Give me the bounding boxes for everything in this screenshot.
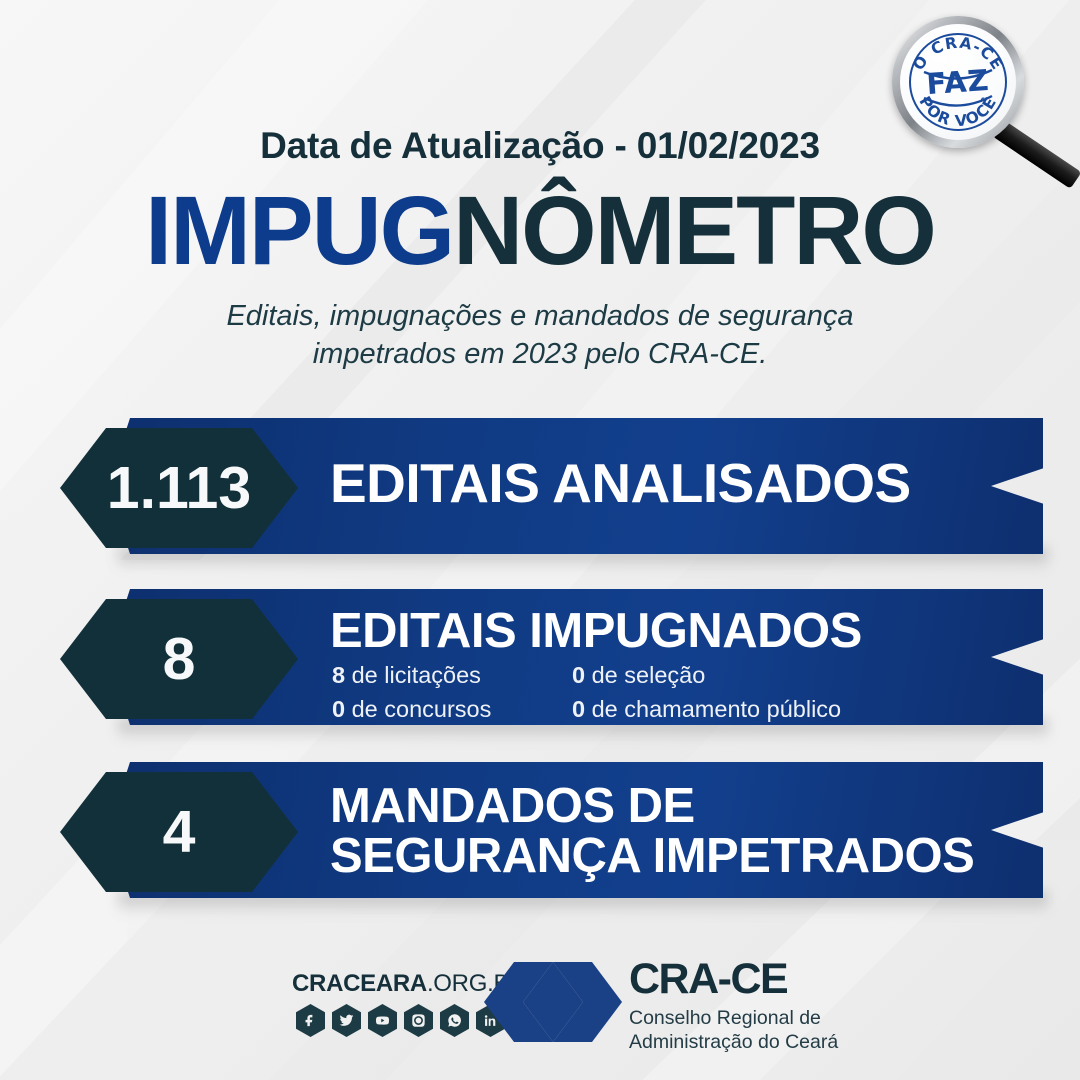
title-part-impug: IMPUG	[145, 176, 453, 285]
brand-tagline-line2: Administração do Ceará	[629, 1031, 838, 1055]
brand-name: CRA-CE	[629, 958, 838, 1001]
website-url-bold: CRACEARA	[292, 970, 427, 997]
stat-number-3: 4	[163, 798, 196, 866]
brand-tagline-line1: Conselho Regional de	[629, 1007, 838, 1031]
stat-number-hex-3: 4	[60, 772, 298, 892]
magnifier-stamp: O CRA-CE POR VOCÊ FAZ	[880, 6, 1080, 196]
breakdown-value: 0	[572, 696, 585, 722]
instagram-icon[interactable]	[404, 1004, 433, 1037]
stat-label-3-line1: MANDADOS DE	[330, 782, 974, 832]
title-part-nometro: NÔMETRO	[453, 176, 935, 285]
breakdown-text: de chamamento público	[585, 696, 841, 722]
breakdown-item: 0 de chamamento público	[572, 692, 841, 726]
magnifier-glass: O CRA-CE POR VOCÊ FAZ	[900, 24, 1016, 140]
facebook-icon[interactable]	[296, 1004, 325, 1037]
breakdown-item: 0 de concursos	[332, 692, 491, 726]
stat-number-hex-1: 1.113	[60, 428, 298, 548]
breakdown-text: de seleção	[585, 662, 705, 688]
breakdown-value: 8	[332, 662, 345, 688]
stat-label-2: EDITAIS IMPUGNADOS	[330, 607, 862, 657]
stat-breakdown-list: 8 de licitações 0 de seleção 0 de concur…	[332, 658, 952, 720]
youtube-icon[interactable]	[368, 1004, 397, 1037]
stat-number-2: 8	[163, 625, 196, 693]
breakdown-text: de concursos	[345, 696, 491, 722]
infographic-poster: O CRA-CE POR VOCÊ FAZ Data de Atualizaçã…	[0, 0, 1080, 1080]
footer: CRACEARA.ORG.BR	[0, 952, 1080, 1048]
update-date: Data de Atualização - 01/02/2023	[0, 125, 1080, 167]
cra-ce-logo-icon	[482, 960, 624, 1049]
stat-number-1: 1.113	[107, 454, 251, 522]
breakdown-value: 0	[572, 662, 585, 688]
breakdown-item: 8 de licitações	[332, 658, 481, 692]
page-title: IMPUGNÔMETRO	[0, 182, 1080, 279]
stat-label-3: MANDADOS DE SEGURANÇA IMPETRADOS	[330, 782, 974, 882]
breakdown-text: de licitações	[345, 662, 481, 688]
stat-label-1: EDITAIS ANALISADOS	[330, 455, 911, 511]
subtitle-line-1: Editais, impugnações e mandados de segur…	[0, 297, 1080, 335]
breakdown-item: 0 de seleção	[572, 658, 705, 692]
stat-number-hex-2: 8	[60, 599, 298, 719]
stat-label-3-line2: SEGURANÇA IMPETRADOS	[330, 832, 974, 882]
brand-tagline: Conselho Regional de Administração do Ce…	[629, 1007, 838, 1055]
social-links	[296, 1004, 505, 1037]
whatsapp-icon[interactable]	[440, 1004, 469, 1037]
breakdown-value: 0	[332, 696, 345, 722]
subtitle-line-2: impetrados em 2023 pelo CRA-CE.	[0, 335, 1080, 373]
twitter-icon[interactable]	[332, 1004, 361, 1037]
page-subtitle: Editais, impugnações e mandados de segur…	[0, 297, 1080, 374]
cra-ce-brand: CRA-CE Conselho Regional de Administraçã…	[629, 958, 838, 1055]
